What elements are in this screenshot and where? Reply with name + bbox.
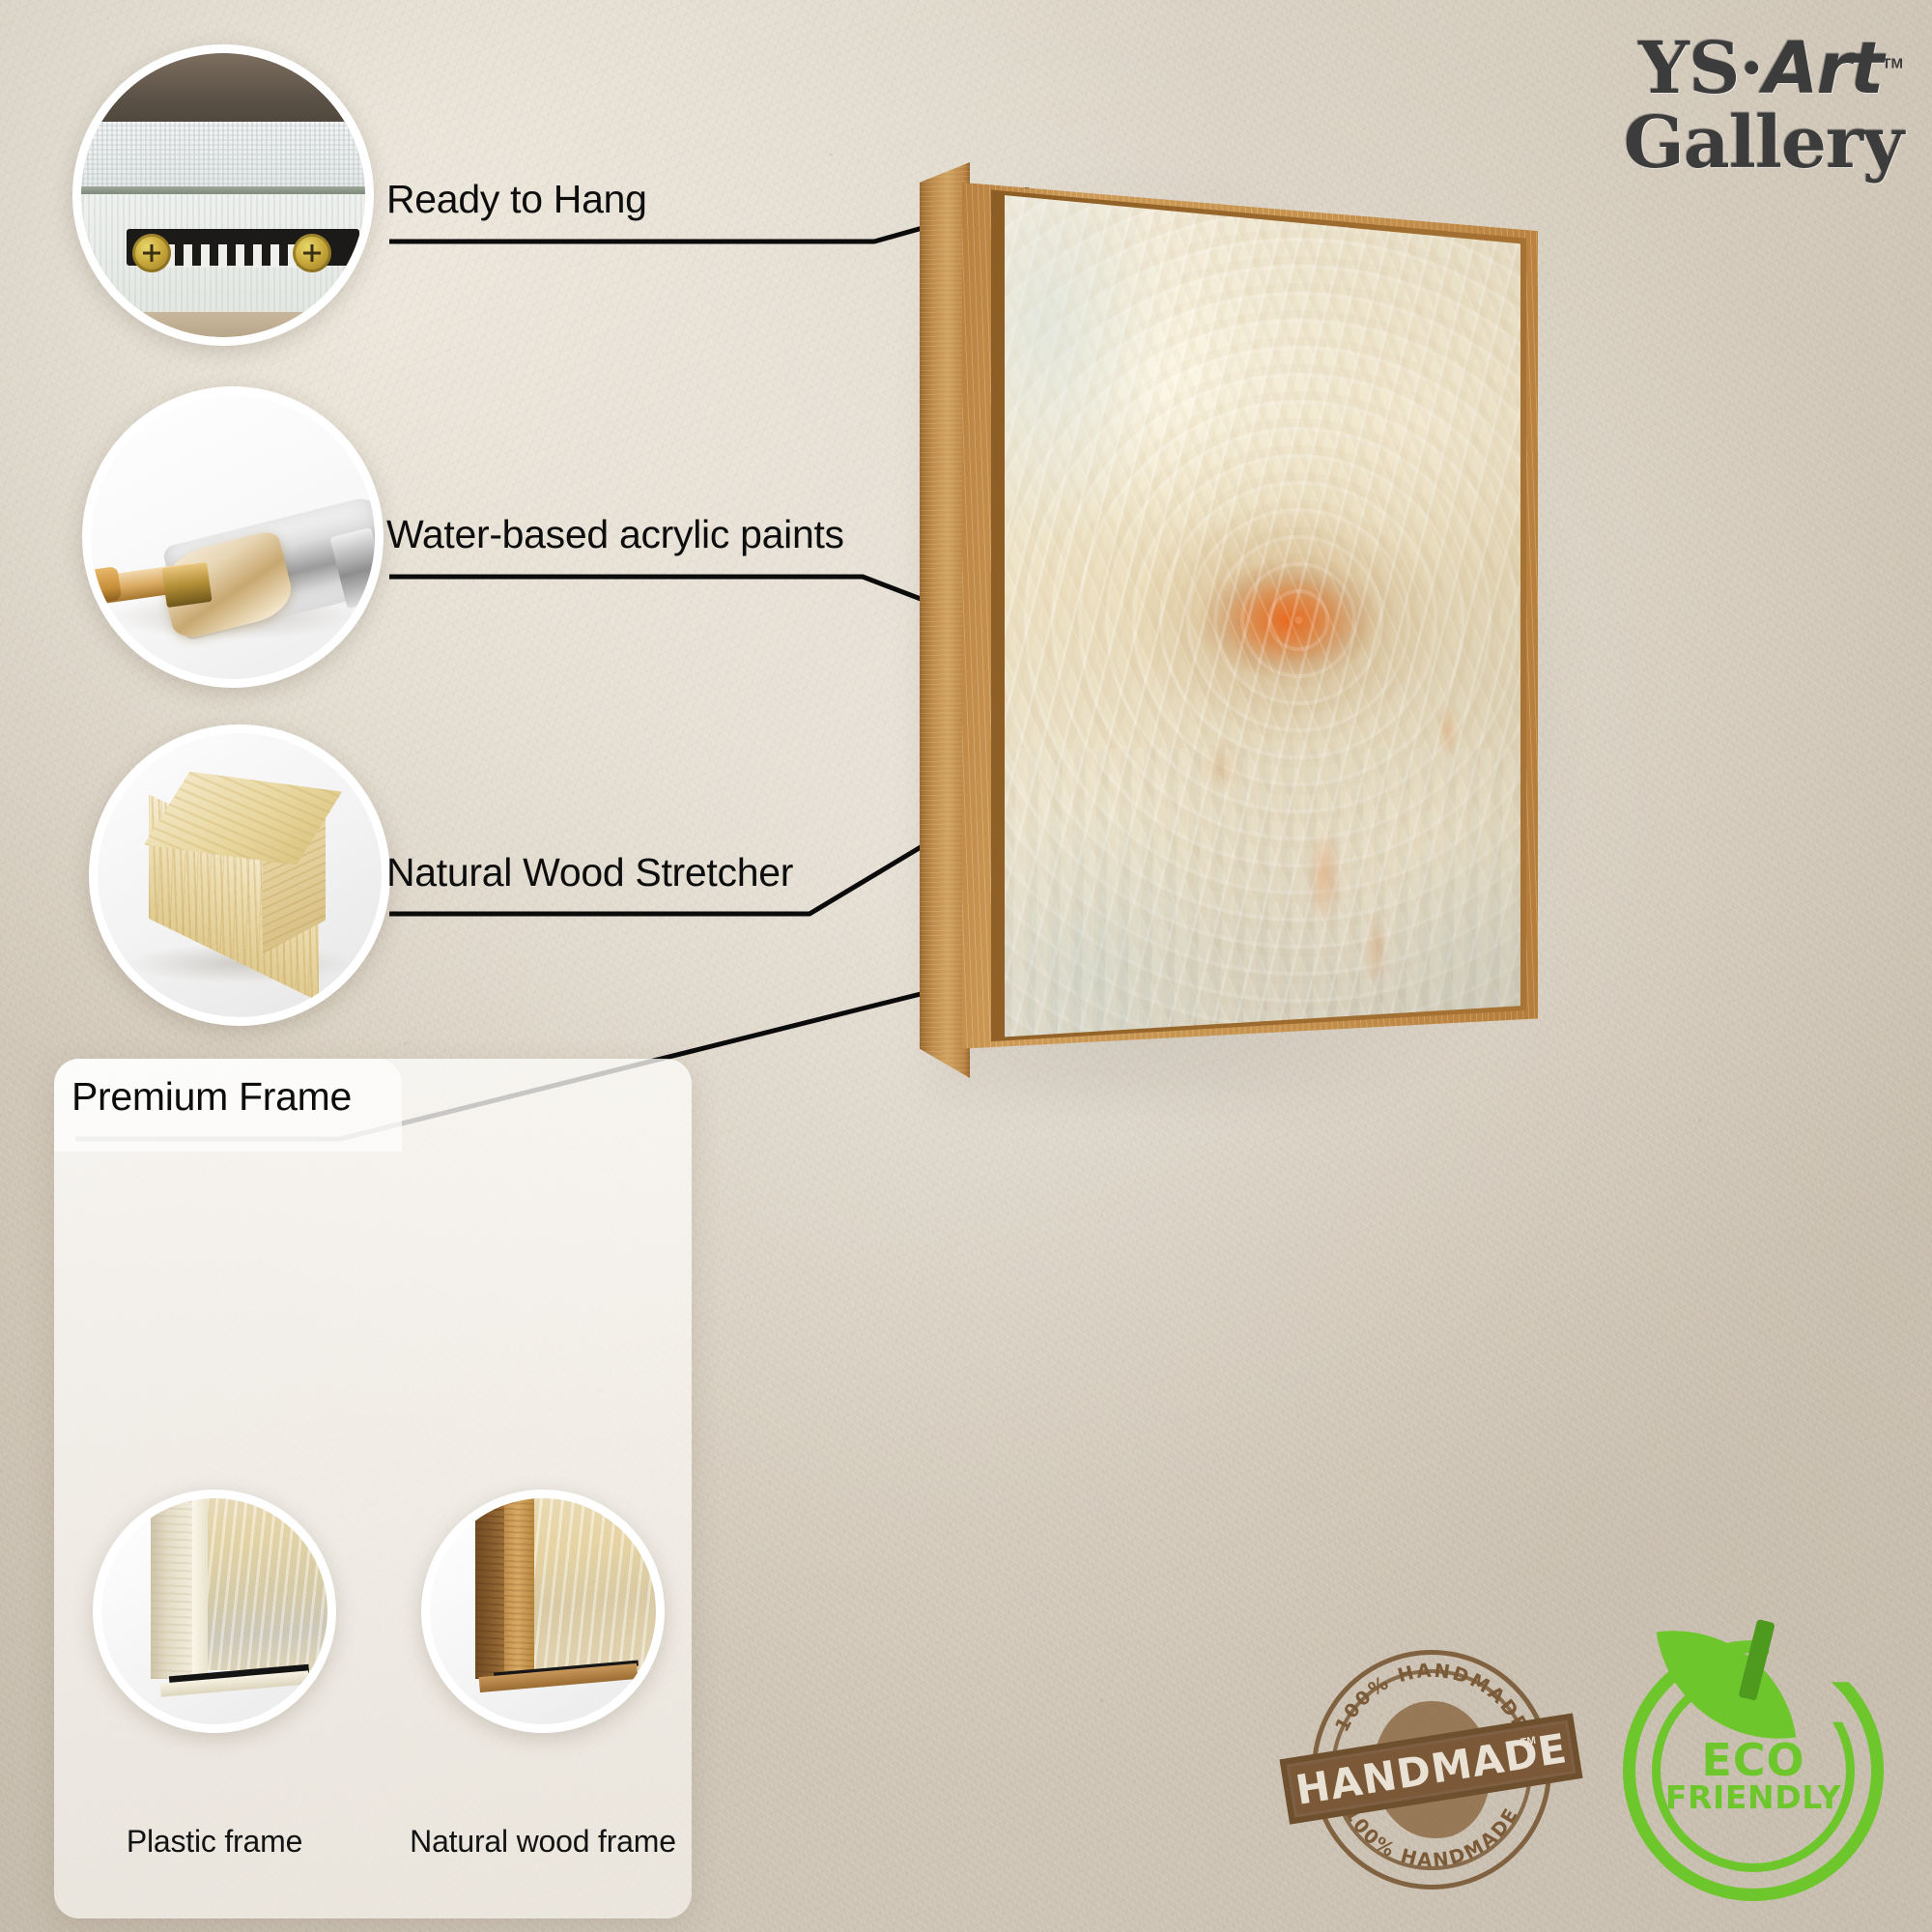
sawtooth-hanger-icon <box>81 53 365 337</box>
logo-line-one: YS·ArtTM <box>1624 35 1903 103</box>
framed-painting[interactable] <box>920 162 1538 1078</box>
plastic-frame-corner-icon <box>101 1498 327 1724</box>
thumb-acrylic-paints[interactable] <box>82 386 384 688</box>
handmade-stamp-badge: 100% HANDMADE 100% HANDMADE HANDMADE TM <box>1310 1648 1553 1891</box>
eco-friendly-badge: ECO FRIENDLY <box>1619 1636 1888 1905</box>
eco-line-one: ECO <box>1619 1739 1888 1781</box>
thumb-natural-wood-frame[interactable] <box>421 1490 665 1733</box>
logo-separator-dot: · <box>1739 27 1763 110</box>
premium-frame-panel <box>54 1059 692 1918</box>
callout-label-premium-frame: Premium Frame <box>71 1074 352 1120</box>
thumb-wood-stretcher[interactable] <box>89 724 390 1026</box>
trademark-icon: TM <box>1882 55 1903 71</box>
eco-badge-text: ECO FRIENDLY <box>1619 1739 1888 1814</box>
callout-label-ready-to-hang: Ready to Hang <box>386 177 647 222</box>
caption-natural-wood-frame: Natural wood frame <box>398 1824 688 1860</box>
screw-icon <box>132 234 171 272</box>
paint-tube-brush-icon <box>91 395 375 679</box>
stamp-trademark-icon: TM <box>1520 1735 1538 1748</box>
painting-canvas <box>1005 162 1520 1078</box>
wood-stretcher-bar-icon <box>98 733 382 1017</box>
logo-art-script: Art <box>1763 27 1882 110</box>
callout-label-wood-stretcher: Natural Wood Stretcher <box>386 850 793 895</box>
stamp-arc-bottom-text: 100% HANDMADE <box>1340 1804 1522 1872</box>
thumb-plastic-frame[interactable] <box>93 1490 336 1733</box>
wood-frame-corner-icon <box>430 1498 656 1724</box>
thumb-ready-to-hang[interactable] <box>72 44 374 346</box>
logo-ys-text: YS <box>1638 27 1739 110</box>
caption-plastic-frame: Plastic frame <box>70 1824 359 1860</box>
infographic-canvas: YS·ArtTM Gallery <box>0 0 1932 1932</box>
callout-label-acrylic-paints: Water-based acrylic paints <box>386 512 844 557</box>
screw-icon <box>293 234 331 272</box>
brand-logo: YS·ArtTM Gallery <box>1624 35 1903 178</box>
eco-line-two: FRIENDLY <box>1619 1781 1888 1814</box>
logo-line-two: Gallery <box>1624 109 1903 178</box>
